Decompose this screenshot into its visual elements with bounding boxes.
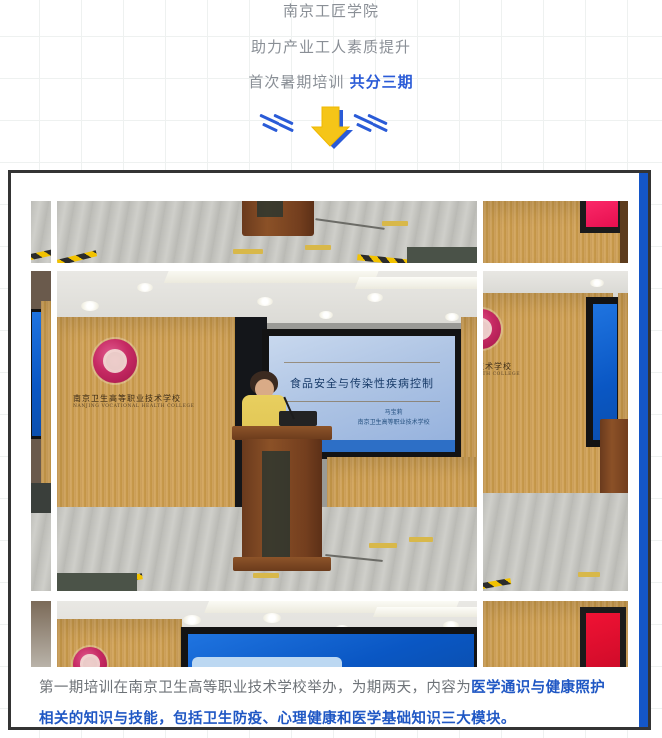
carousel-slide-previous-main[interactable] — [31, 271, 51, 591]
wall-school-name: 南京卫生高等职业技术学校 NANJING VOCATIONAL HEALTH C… — [73, 393, 195, 409]
heading-line-program: 首次暑期培训 共分三期 — [0, 75, 662, 92]
carousel-slide-next-main[interactable]: 业技术学校 HEALTH COLLEGE — [483, 271, 628, 591]
caption-plain-text: 第一期培训在南京卫生高等职业技术学校举办，为期两天，内容为 — [39, 680, 471, 696]
heading-line-institution: 南京工匠学院 — [0, 4, 662, 21]
carousel-slide-current[interactable] — [57, 201, 477, 263]
carousel-slide-current-bottom[interactable] — [57, 601, 477, 667]
heading-program-accent: 共分三期 — [350, 74, 414, 91]
arrow-down-icon — [306, 104, 354, 150]
carousel-slide-previous-bottom[interactable] — [31, 601, 51, 667]
heading-line-slogan: 助力产业工人素质提升 — [0, 40, 662, 57]
carousel-row-3[interactable] — [31, 601, 628, 667]
vertical-scrollbar[interactable] — [639, 173, 648, 730]
page-background: 南京工匠学院 助力产业工人素质提升 首次暑期培训 共分三期 — [0, 0, 662, 738]
projection-screen-subtitle: 马宝莉 南京卫生高等职业技术学校 — [343, 408, 443, 428]
carousel-slide-next[interactable] — [483, 201, 628, 263]
carousel-slide-current-main[interactable]: 南京卫生高等职业技术学校 NANJING VOCATIONAL HEALTH C… — [57, 271, 477, 591]
carousel-slide-next-bottom[interactable] — [483, 601, 628, 667]
caption-text: 第一期培训在南京卫生高等职业技术学校举办，为期两天，内容为医学通识与健康照护相关… — [39, 673, 619, 730]
carousel-row-2[interactable]: 南京卫生高等职业技术学校 NANJING VOCATIONAL HEALTH C… — [31, 271, 628, 591]
arrow-decoration-row — [0, 104, 662, 154]
projection-screen-title: 食品安全与传染性疾病控制 — [280, 375, 444, 391]
content-card: 南京卫生高等职业技术学校 NANJING VOCATIONAL HEALTH C… — [8, 170, 651, 730]
speed-lines-right-icon — [352, 116, 412, 138]
image-carousel[interactable]: 南京卫生高等职业技术学校 NANJING VOCATIONAL HEALTH C… — [11, 173, 645, 667]
carousel-row-1[interactable] — [31, 201, 628, 263]
heading-program-plain: 首次暑期培训 — [248, 74, 349, 91]
heading-block: 南京工匠学院 助力产业工人素质提升 首次暑期培训 共分三期 — [0, 0, 662, 92]
carousel-slide-previous[interactable] — [31, 201, 51, 263]
